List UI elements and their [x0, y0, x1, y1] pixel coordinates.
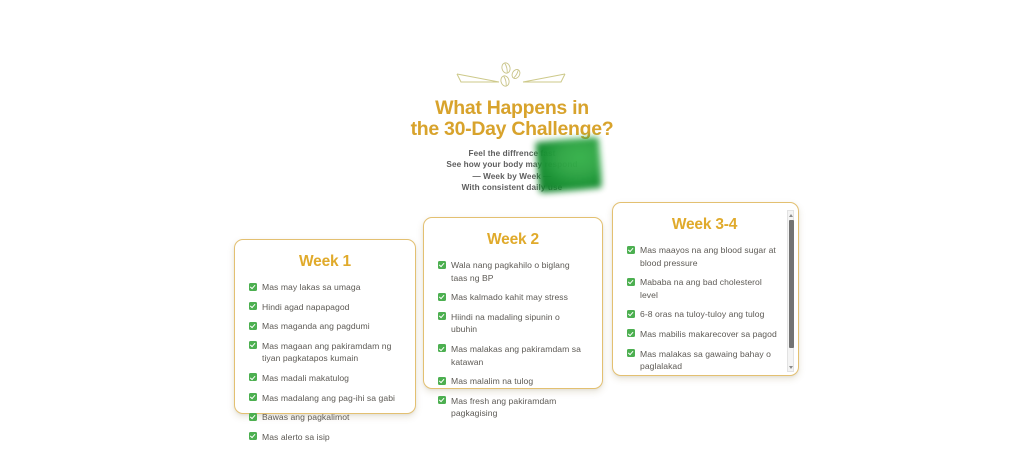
list-item-label: Mababa na ang bad cholesterol level	[640, 277, 762, 300]
check-square-icon	[249, 322, 257, 330]
check-square-icon	[249, 283, 257, 291]
benefit-list-week-1: Mas may lakas sa umaga Hindi agad napapa…	[249, 281, 401, 443]
list-item: Wala nang pagkahilo o biglang taas ng BP	[438, 259, 588, 284]
list-item-label: Mas malakas sa gawaing bahay o paglalaka…	[640, 349, 771, 372]
page-title-line-2: the 30-Day Challenge?	[0, 119, 1024, 140]
list-item: Mas mabilis makarecover sa pagod	[627, 328, 780, 341]
list-item: Mas fresh ang pakiramdam pagkagising	[438, 395, 588, 420]
check-square-icon	[438, 261, 446, 269]
check-square-icon	[438, 312, 446, 320]
card-title-week-1: Week 1	[249, 253, 401, 271]
check-square-icon	[249, 373, 257, 381]
check-square-icon	[249, 413, 257, 421]
scrollbar-thumb[interactable]	[789, 220, 794, 348]
list-item-label: Mas malalim na tulog	[451, 376, 533, 386]
card-week-3-4: Week 3-4 Mas maayos na ang blood sugar a…	[612, 202, 799, 376]
list-item-label: 6-8 oras na tuloy-tuloy ang tulog	[640, 309, 764, 319]
list-item-label: Mas maganda ang pagdumi	[262, 321, 370, 331]
list-item: Mas kalmado kahit may stress	[438, 291, 588, 304]
subtitle-line-2: See how your body may respond	[0, 159, 1024, 170]
check-square-icon	[249, 302, 257, 310]
list-item-label: Mas fresh ang pakiramdam pagkagising	[451, 396, 556, 419]
list-item: Mas maganda ang pagdumi	[249, 320, 401, 333]
list-item-label: Mas mabilis makarecover sa pagod	[640, 329, 777, 339]
subtitle-block: Feel the diffrence fast See how your bod…	[0, 148, 1024, 194]
scroll-up-arrow-icon[interactable]	[788, 211, 793, 219]
check-square-icon	[627, 349, 635, 357]
card-scrollbar[interactable]	[787, 210, 794, 372]
list-item: Mas alerto sa isip	[249, 431, 401, 444]
card-title-week-3-4: Week 3-4	[627, 216, 782, 234]
list-item-label: Wala nang pagkahilo o biglang taas ng BP	[451, 260, 570, 283]
list-item-label: Mas alerto sa isip	[262, 432, 330, 442]
list-item-label: Mas maayos na ang blood sugar at blood p…	[640, 245, 776, 268]
coffee-beans-divider-icon	[455, 60, 567, 90]
card-week-3-4-scroll-area[interactable]: Mas maayos na ang blood sugar at blood p…	[627, 244, 782, 372]
list-item-label: Mas magaan ang pakiramdam ng tiyan pagka…	[262, 341, 391, 364]
check-square-icon	[438, 293, 446, 301]
list-item: Mas maayos na ang blood sugar at blood p…	[627, 244, 780, 269]
list-item: Mas madali makatulog	[249, 372, 401, 385]
subtitle-line-3: — Week by Week —	[0, 171, 1024, 182]
list-item: Hindi agad napapagod	[249, 301, 401, 314]
list-item-label: Hiindi na madaling sipunin o ubuhin	[451, 312, 560, 335]
check-square-icon	[438, 344, 446, 352]
list-item: 6-8 oras na tuloy-tuloy ang tulog	[627, 308, 780, 321]
check-square-icon	[438, 396, 446, 404]
list-item-label: Mas may lakas sa umaga	[262, 282, 361, 292]
check-square-icon	[249, 341, 257, 349]
page-title-line-1: What Happens in	[0, 98, 1024, 119]
page-root: What Happens in the 30-Day Challenge? Fe…	[0, 0, 1024, 464]
list-item-label: Bawas ang pagkalimot	[262, 412, 349, 422]
list-item: Mas malakas sa gawaing bahay o paglalaka…	[627, 348, 780, 372]
benefit-list-week-2: Wala nang pagkahilo o biglang taas ng BP…	[438, 259, 588, 420]
list-item: Mas magaan ang pakiramdam ng tiyan pagka…	[249, 340, 401, 365]
scroll-down-arrow-icon[interactable]	[788, 363, 793, 371]
subtitle-line-4: With consistent daily use	[0, 182, 1024, 193]
list-item: Hiindi na madaling sipunin o ubuhin	[438, 311, 588, 336]
card-week-1: Week 1 Mas may lakas sa umaga Hindi agad…	[234, 239, 416, 414]
benefit-list-week-3-4: Mas maayos na ang blood sugar at blood p…	[627, 244, 780, 372]
list-item-label: Mas malakas ang pakiramdam sa katawan	[451, 344, 581, 367]
card-week-2: Week 2 Wala nang pagkahilo o biglang taa…	[423, 217, 603, 389]
check-square-icon	[627, 329, 635, 337]
list-item: Mas madalang ang pag-ihi sa gabi	[249, 392, 401, 405]
list-item-label: Mas kalmado kahit may stress	[451, 292, 568, 302]
check-square-icon	[249, 393, 257, 401]
list-item: Mas malakas ang pakiramdam sa katawan	[438, 343, 588, 368]
check-square-icon	[627, 278, 635, 286]
list-item: Mas may lakas sa umaga	[249, 281, 401, 294]
check-square-icon	[249, 432, 257, 440]
list-item: Mababa na ang bad cholesterol level	[627, 276, 780, 301]
subtitle-line-1: Feel the diffrence fast	[0, 148, 1024, 159]
card-title-week-2: Week 2	[438, 231, 588, 249]
check-square-icon	[438, 377, 446, 385]
check-square-icon	[627, 246, 635, 254]
list-item: Bawas ang pagkalimot	[249, 411, 401, 424]
check-square-icon	[627, 310, 635, 318]
list-item: Mas malalim na tulog	[438, 375, 588, 388]
header-block: What Happens in the 30-Day Challenge? Fe…	[0, 98, 1024, 194]
list-item-label: Mas madalang ang pag-ihi sa gabi	[262, 393, 395, 403]
list-item-label: Mas madali makatulog	[262, 373, 349, 383]
list-item-label: Hindi agad napapagod	[262, 302, 350, 312]
